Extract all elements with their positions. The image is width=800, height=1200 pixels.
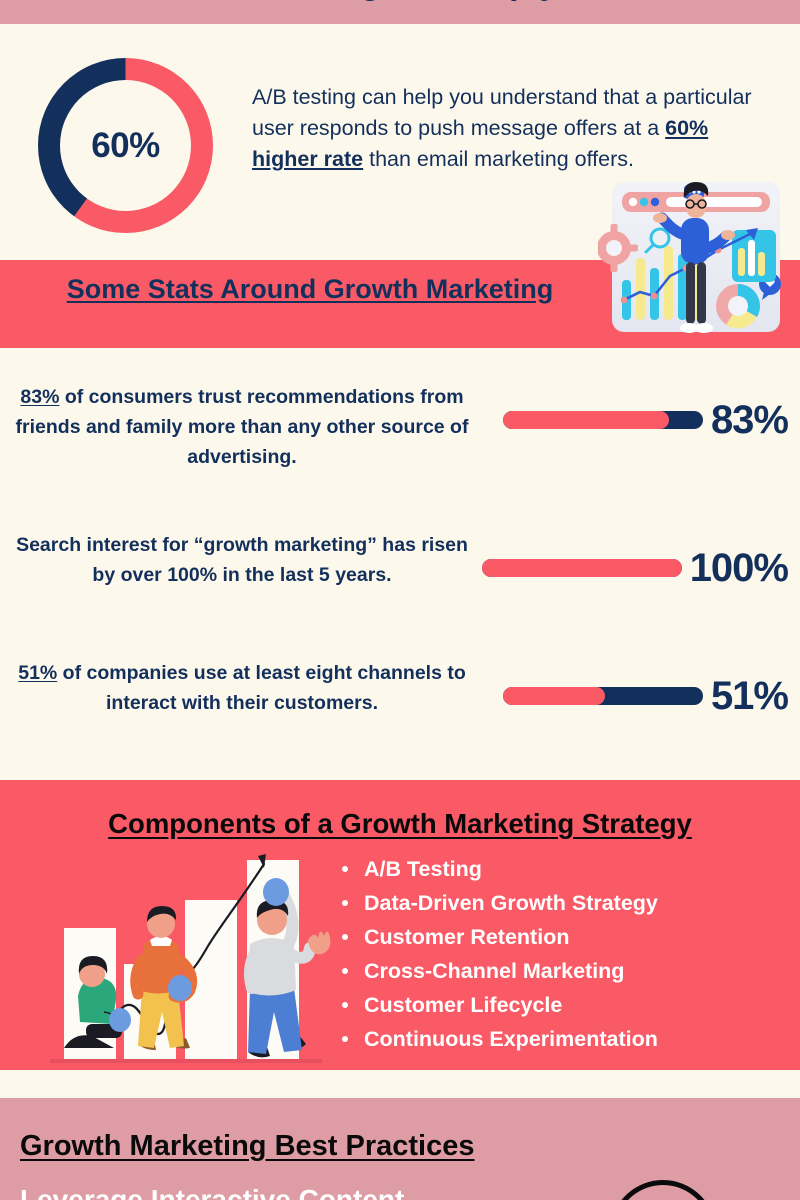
stat-text-after: of companies use at least eight channels… (57, 662, 466, 714)
list-item: Continuous Experimentation (338, 1022, 788, 1056)
donut-chart: 60% (38, 58, 213, 233)
stat-meter: 83% (503, 400, 788, 440)
list-item: Data-Driven Growth Strategy (338, 886, 788, 920)
meter-fill (482, 559, 682, 577)
stat-text: 83% of consumers trust recommendations f… (8, 382, 476, 472)
stats-section: 83% of consumers trust recommendations f… (0, 348, 800, 780)
team-growth-bars-illustration (42, 848, 332, 1068)
top-clipped-text: A/B testing can help you (0, 0, 800, 3)
stat-text: Search interest for “growth marketing” h… (8, 530, 476, 590)
best-practices-section: Growth Marketing Best Practices Leverage… (0, 1098, 800, 1200)
meter-track (503, 687, 703, 705)
best-practices-title: Growth Marketing Best Practices (20, 1130, 474, 1163)
list-item: A/B Testing (338, 852, 788, 886)
components-section: Components of a Growth Marketing Strateg… (0, 780, 800, 1070)
top-clipped-band: A/B testing can help you (0, 0, 800, 24)
stat-text-highlight: 83% (20, 386, 59, 408)
meter-value-label: 83% (711, 400, 788, 440)
meter-fill (503, 687, 605, 705)
meter-fill (503, 411, 669, 429)
stat-row: 51% of companies use at least eight chan… (0, 658, 800, 778)
components-list: A/B Testing Data-Driven Growth Strategy … (338, 852, 788, 1056)
stat-text-highlight: 51% (18, 662, 57, 684)
decorative-circle-outline (610, 1180, 716, 1200)
meter-track (503, 411, 703, 429)
best-practices-clipped-subtitle: Leverage Interactive Content (20, 1184, 404, 1200)
stat-row: Search interest for “growth marketing” h… (0, 530, 800, 650)
analytics-presenter-illustration (598, 172, 794, 344)
stat-text: 51% of companies use at least eight chan… (8, 658, 476, 718)
components-title: Components of a Growth Marketing Strateg… (0, 808, 800, 840)
list-item: Customer Retention (338, 920, 788, 954)
stat-text-highlight: 100% (167, 564, 217, 586)
donut-value-label: 60% (91, 126, 160, 166)
stat-text-after: in the last 5 years. (217, 564, 392, 586)
infographic-page: A/B testing can help you 60% A/B testing… (0, 0, 800, 1200)
meter-track (482, 559, 682, 577)
stat-meter: 100% (482, 548, 788, 588)
stat-text-after: of consumers trust recommendations from … (16, 386, 469, 468)
meter-value-label: 51% (711, 676, 788, 716)
stat-meter: 51% (503, 676, 788, 716)
blurb-after: than email marketing offers. (363, 147, 634, 171)
stat-row: 83% of consumers trust recommendations f… (0, 382, 800, 502)
donut-blurb: A/B testing can help you understand that… (252, 82, 752, 175)
list-item: Cross-Channel Marketing (338, 954, 788, 988)
donut-center: 60% (60, 80, 191, 211)
list-item: Customer Lifecycle (338, 988, 788, 1022)
stats-header-title: Some Stats Around Growth Marketing (30, 272, 590, 306)
meter-value-label: 100% (690, 548, 788, 588)
